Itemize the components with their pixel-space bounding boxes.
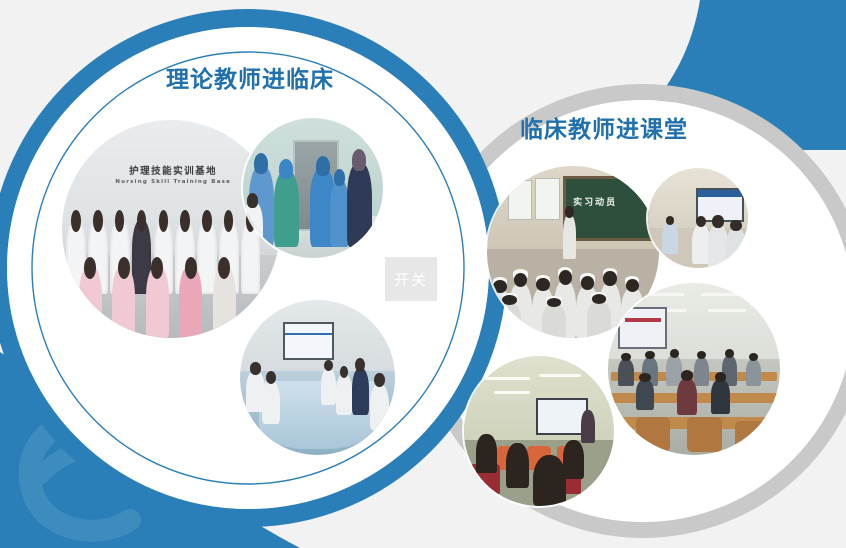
photo-conference-room-meeting[interactable]: 临床教学会议 [240,300,395,455]
wall-sign-cn: 护理技能实训基地 [110,166,236,177]
photo-lecture-hall-large[interactable]: 阶梯教室专题讲座 [608,283,780,455]
section-title-left: 理论教师进临床 [166,60,334,94]
photo-scene [648,168,748,268]
photo-scene [608,283,780,455]
section-title-right: 临床教师进课堂 [520,110,688,144]
photo-small-classroom-projection[interactable]: 小班教学示教 [648,168,748,268]
photo-lecture-room-orange-seats[interactable]: 课堂授课现场 [464,356,614,506]
wall-sign-en: Nursing Skill Training Base [110,177,236,188]
presenter [581,410,595,443]
s-logo-watermark [30,420,140,531]
switch-overlay-label[interactable]: 开关 [385,257,437,301]
photo-scene [464,356,614,506]
projected-slide [618,307,667,349]
presentation-screen [283,322,334,360]
lecturer [563,214,577,259]
photo-scene [240,300,395,455]
photo-hospital-corridor-scrubs[interactable]: 手术室走廊带教查房 [243,118,383,258]
slide-canvas: 理论教师进临床 护理技能实训基地 Nursing Skill Training … [0,0,846,548]
blackboard-text: 实习动员 [573,195,617,208]
photo-scene [243,118,383,258]
wall-sign: 护理技能实训基地 Nursing Skill Training Base [110,166,236,199]
top-right-blue-wedge [690,0,846,150]
